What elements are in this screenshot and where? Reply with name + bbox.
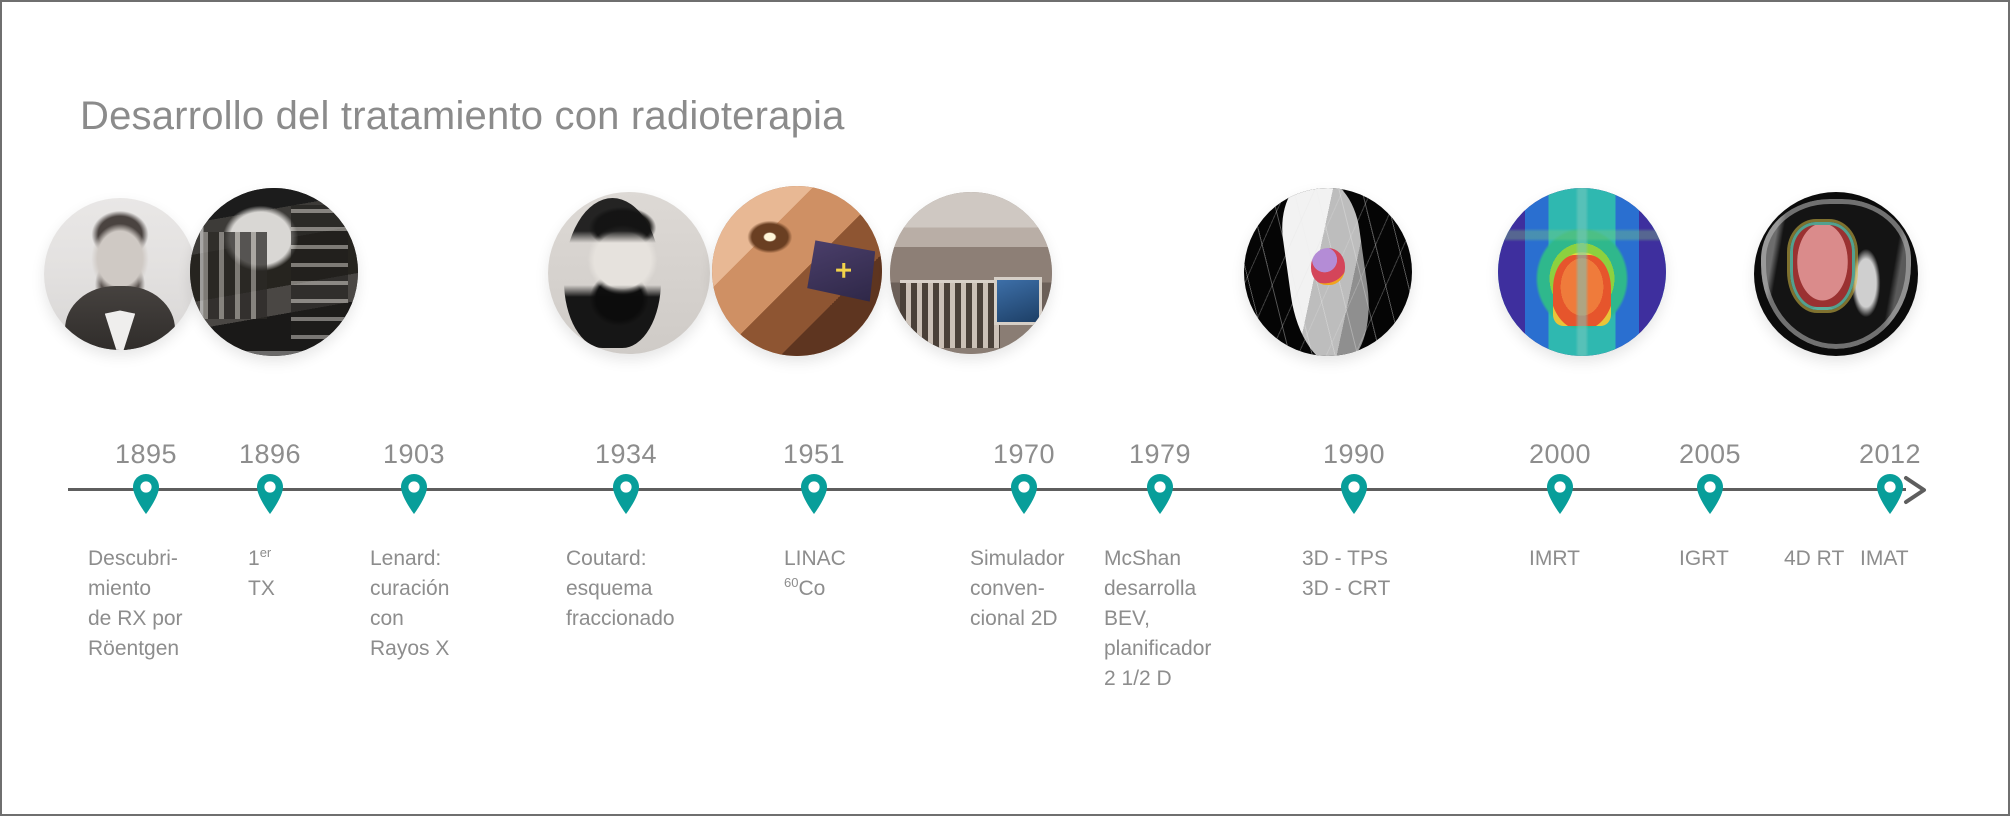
event-caption-1951: LINAC 60Co <box>784 544 904 604</box>
caption-text: Co <box>798 577 825 600</box>
event-image-2012 <box>1754 192 1918 356</box>
caption-line: fraccionado <box>566 604 746 634</box>
event-caption-1896: 1er TX <box>248 544 348 604</box>
imrt-dose-colorwash-image <box>1498 188 1666 356</box>
timeline-pin-1934[interactable] <box>610 472 642 516</box>
caption-line: 3D - TPS <box>1302 544 1442 574</box>
timeline-pin-2012[interactable] <box>1874 472 1906 516</box>
event-caption-1970: Simulador conven- cional 2D <box>970 544 1120 634</box>
timeline-pin-1990[interactable] <box>1338 472 1370 516</box>
event-caption-1979: McShan desarrolla BEV, planificador 2 1/… <box>1104 544 1264 694</box>
lab-apparatus-photo-image <box>190 188 358 356</box>
caption-line: 2 1/2 D <box>1104 664 1264 694</box>
event-caption-2005: IGRT <box>1679 544 1779 574</box>
event-image-1951 <box>712 186 882 356</box>
caption-superscript: 60 <box>784 575 798 590</box>
page-title: Desarrollo del tratamiento con radiotera… <box>80 94 845 139</box>
year-label-2012: 2012 <box>1859 439 1921 470</box>
portrait-roentgen-image <box>44 198 196 350</box>
year-label-1951: 1951 <box>783 439 845 470</box>
caption-line: con <box>370 604 520 634</box>
caption-line: McShan <box>1104 544 1264 574</box>
event-image-1934 <box>548 192 710 354</box>
caption-line: Descubri- <box>88 544 238 574</box>
event-caption-2012: IMAT <box>1860 544 1960 574</box>
timeline-pin-1970[interactable] <box>1008 472 1040 516</box>
year-label-1895: 1895 <box>115 439 177 470</box>
caption-line: IMAT <box>1860 544 1960 574</box>
caption-line: Lenard: <box>370 544 520 574</box>
ct-slice-dose-distribution-image <box>1754 192 1918 356</box>
caption-line: Röentgen <box>88 634 238 664</box>
timeline-pin-2000[interactable] <box>1544 472 1576 516</box>
caption-line: esquema <box>566 574 746 604</box>
caption-line: IGRT <box>1679 544 1779 574</box>
event-image-1990 <box>1244 188 1412 356</box>
caption-line: planificador <box>1104 634 1264 664</box>
year-label-2000: 2000 <box>1529 439 1591 470</box>
year-label-1979: 1979 <box>1129 439 1191 470</box>
timeline-axis <box>68 488 1906 491</box>
caption-line: 3D - CRT <box>1302 574 1442 604</box>
caption-line: Rayos X <box>370 634 520 664</box>
event-image-2000 <box>1498 188 1666 356</box>
caption-line: desarrolla <box>1104 574 1264 604</box>
year-label-1990: 1990 <box>1323 439 1385 470</box>
caption-line: cional 2D <box>970 604 1120 634</box>
caption-line: 60Co <box>784 574 904 604</box>
year-label-1903: 1903 <box>383 439 445 470</box>
wireframe-overlay <box>1244 188 1412 356</box>
event-image-1896 <box>190 188 358 356</box>
event-caption-1990: 3D - TPS 3D - CRT <box>1302 544 1442 604</box>
year-label-1896: 1896 <box>239 439 301 470</box>
caption-superscript: er <box>260 545 272 560</box>
caption-line: conven- <box>970 574 1120 604</box>
timeline-pin-1896[interactable] <box>254 472 286 516</box>
event-image-1970 <box>890 192 1052 354</box>
event-caption-2000: IMRT <box>1529 544 1629 574</box>
portrait-coutard-image <box>548 192 710 354</box>
year-label-2005: 2005 <box>1679 439 1741 470</box>
caption-line: Simulador <box>970 544 1120 574</box>
linac-machine-image <box>712 186 882 356</box>
caption-line: curación <box>370 574 520 604</box>
year-label-1934: 1934 <box>595 439 657 470</box>
caption-line: de RX por <box>88 604 238 634</box>
timeline-pin-1903[interactable] <box>398 472 430 516</box>
caption-text: 1 <box>248 547 260 570</box>
caption-line: TX <box>248 574 348 604</box>
3d-treatment-rendering-image <box>1244 188 1412 356</box>
caption-line: IMRT <box>1529 544 1629 574</box>
timeline-pin-2005[interactable] <box>1694 472 1726 516</box>
timeline-pin-1895[interactable] <box>130 472 162 516</box>
event-caption-1895: Descubri- miento de RX por Röentgen <box>88 544 238 664</box>
year-label-1970: 1970 <box>993 439 1055 470</box>
infographic-canvas: Desarrollo del tratamiento con radiotera… <box>0 0 2010 816</box>
caption-line: LINAC <box>784 544 904 574</box>
event-image-1895 <box>44 198 196 350</box>
caption-line: BEV, <box>1104 604 1264 634</box>
caption-line: 1er <box>248 544 348 574</box>
timeline-pin-1951[interactable] <box>798 472 830 516</box>
conventional-simulator-room-image <box>890 192 1052 354</box>
caption-line: Coutard: <box>566 544 746 574</box>
caption-line: miento <box>88 574 238 604</box>
event-caption-1903: Lenard: curación con Rayos X <box>370 544 520 664</box>
event-caption-1934: Coutard: esquema fraccionado <box>566 544 746 634</box>
timeline-pin-1979[interactable] <box>1144 472 1176 516</box>
